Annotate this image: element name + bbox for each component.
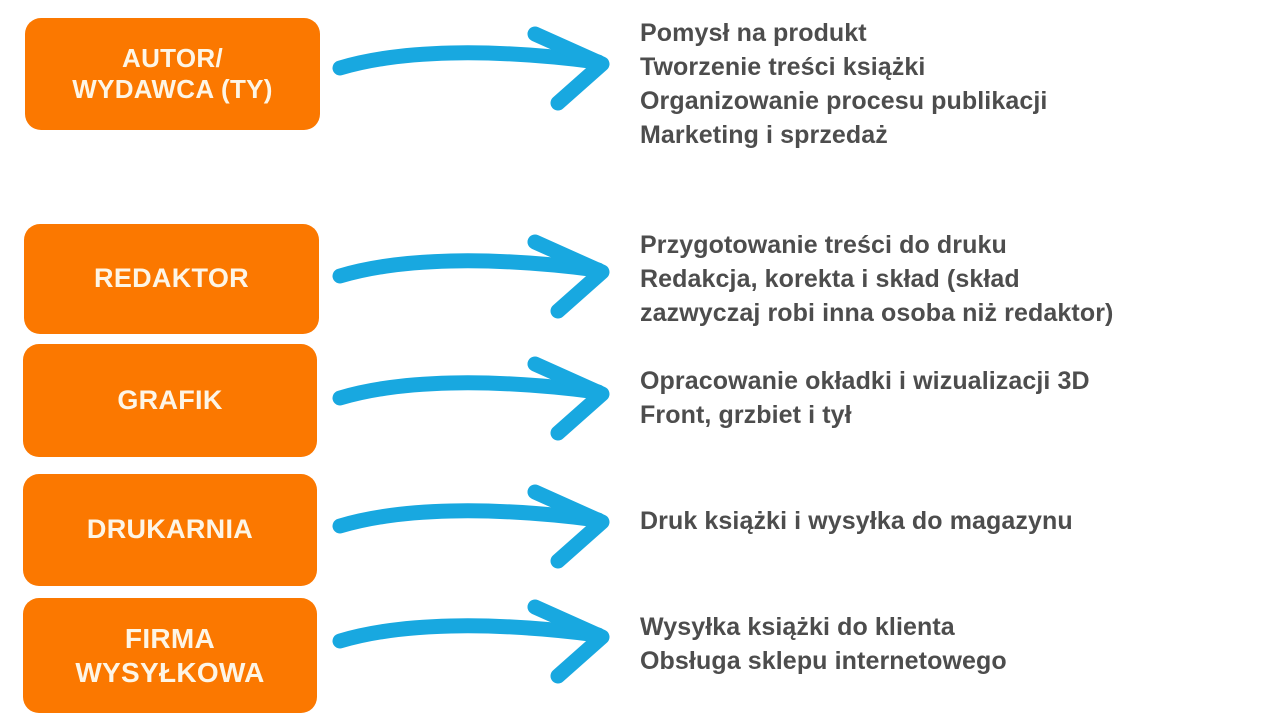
description-grafik: Opracowanie okładki i wizualizacji 3D Fr…: [640, 364, 1240, 432]
role-box-label: GRAFIK: [107, 385, 232, 417]
role-box-autor-wydawca[interactable]: AUTOR/ WYDAWCA (TY): [25, 18, 320, 130]
description-autor-wydawca: Pomysł na produkt Tworzenie treści książ…: [640, 16, 1240, 152]
curved-right-arrow-icon: [330, 20, 630, 130]
role-box-drukarnia[interactable]: DRUKARNIA: [23, 474, 317, 586]
curved-right-arrow-icon: [330, 593, 630, 703]
role-box-grafik[interactable]: GRAFIK: [23, 344, 317, 457]
role-box-label: AUTOR/ WYDAWCA (TY): [62, 43, 283, 104]
role-box-firma-wysylkowa[interactable]: FIRMA WYSYŁKOWA: [23, 598, 317, 713]
description-redaktor: Przygotowanie treści do druku Redakcja, …: [640, 228, 1240, 330]
description-firma-wysylkowa: Wysyłka książki do klienta Obsługa sklep…: [640, 610, 1240, 678]
curved-right-arrow-icon: [330, 228, 630, 338]
role-box-label: FIRMA WYSYŁKOWA: [65, 622, 274, 688]
role-box-label: DRUKARNIA: [77, 514, 263, 546]
curved-right-arrow-icon: [330, 478, 630, 588]
curved-right-arrow-icon: [330, 350, 630, 460]
role-box-redaktor[interactable]: REDAKTOR: [24, 224, 319, 334]
role-box-label: REDAKTOR: [84, 263, 259, 295]
publishing-process-diagram: AUTOR/ WYDAWCA (TY) Pomysł na produkt Tw…: [0, 0, 1280, 720]
description-drukarnia: Druk książki i wysyłka do magazynu: [640, 504, 1240, 538]
